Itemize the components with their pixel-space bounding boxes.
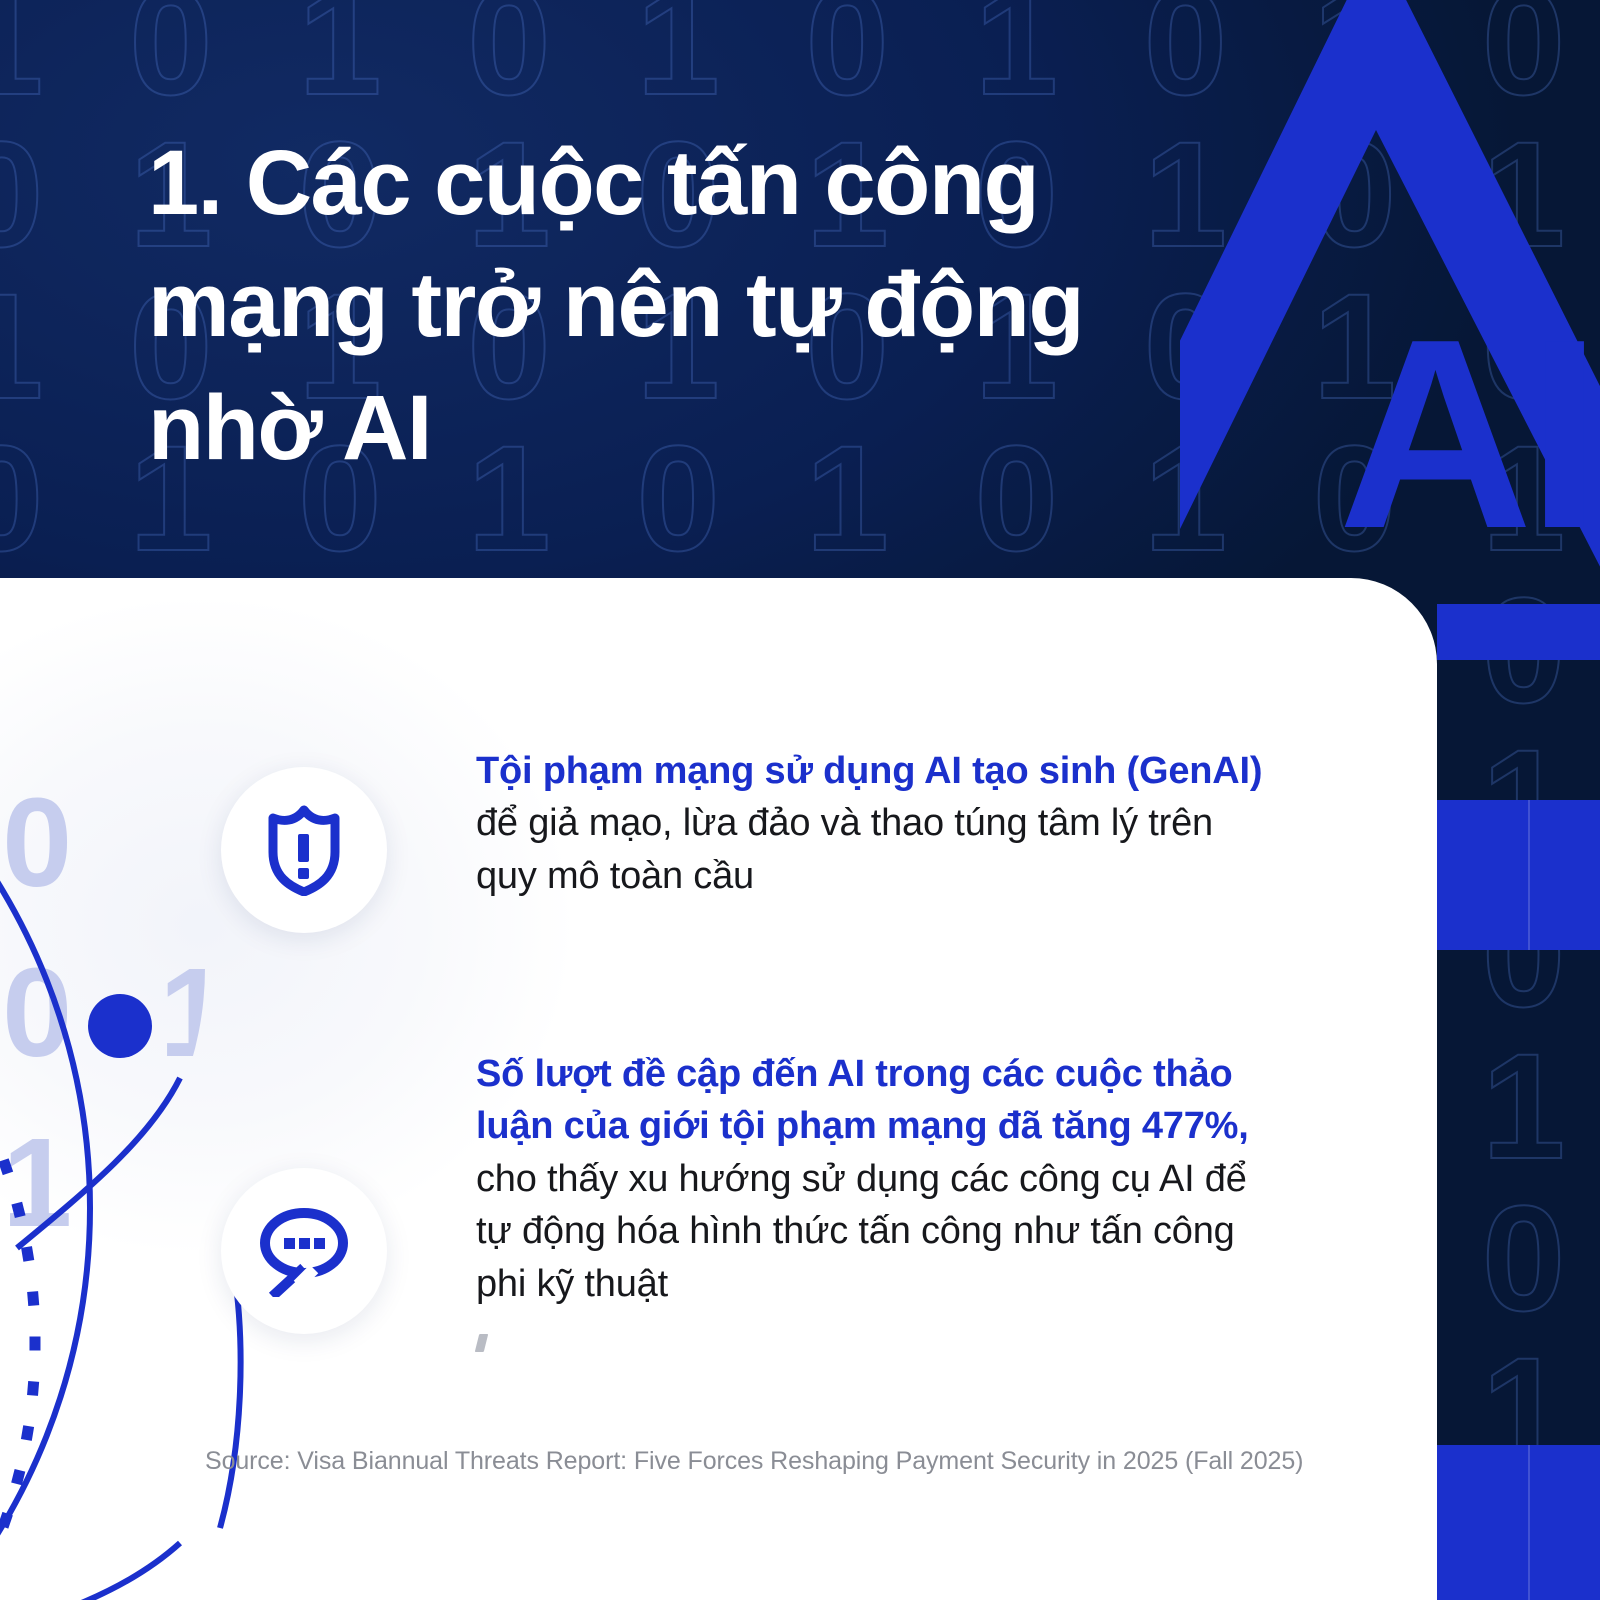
- title-line-1: 1. Các cuộc tấn công: [148, 122, 1268, 244]
- ai-wordmark: AI: [1338, 300, 1596, 570]
- connector-chat: [0, 1543, 180, 1600]
- card-binary-clip: 1 0 1 0 1 0 1 0 1 0: [0, 638, 205, 1298]
- point-1-rest: để giả mạo, lừa đảo và thao túng tâm lý …: [476, 802, 1213, 896]
- node-dot-top: [88, 994, 152, 1058]
- chat-bubble-dots-icon: [256, 1205, 352, 1297]
- title-line-2: mạng trở nên tự động: [148, 244, 1268, 366]
- dotted-ring-arc: [0, 798, 35, 1600]
- card-binary-digits: 1 0 1 0 1 0 1 0 1 0: [0, 758, 205, 1298]
- point-2-text: Số lượt đề cập đến AI trong các cuộc thả…: [476, 1048, 1291, 1310]
- shield-alert-icon: [261, 804, 347, 896]
- title-line-3: nhờ AI: [148, 367, 1268, 489]
- source-caption: Source: Visa Biannual Threats Report: Fi…: [205, 1447, 1303, 1476]
- point-2-rest: cho thấy xu hướng sử dụng các công cụ AI…: [476, 1158, 1247, 1305]
- stray-artifact-mark: [475, 1334, 488, 1352]
- outer-ring-arc: [0, 588, 90, 1600]
- icon-bubble-chat: [221, 1168, 387, 1334]
- icon-bubble-shield: [221, 767, 387, 933]
- point-1-bold: Tội phạm mạng sử dụng AI tạo sinh (GenAI…: [476, 750, 1262, 792]
- point-2-bold: Số lượt đề cập đến AI trong các cuộc thả…: [476, 1053, 1249, 1147]
- content-card: 1 0 1 0 1 0 1 0 1 0: [0, 578, 1437, 1600]
- page-title: 1. Các cuộc tấn công mạng trở nên tự độn…: [148, 122, 1268, 489]
- point-1-text: Tội phạm mạng sử dụng AI tạo sinh (GenAI…: [476, 745, 1276, 902]
- connector-shield: [17, 1078, 180, 1248]
- infographic-canvas: 1 0 1 0 1 0 1 0 1 0 1 0 1 0 1 0 1 0 1 0 …: [0, 0, 1600, 1600]
